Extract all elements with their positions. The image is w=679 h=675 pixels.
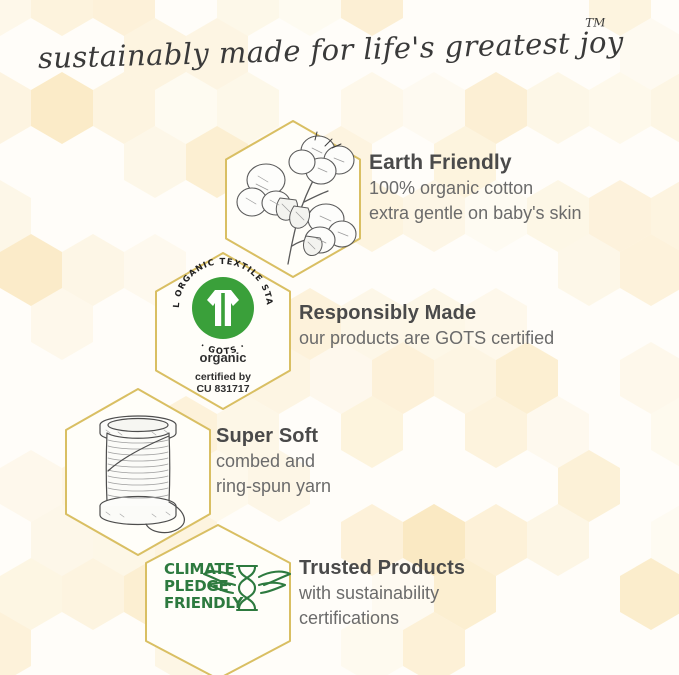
feature-text-block: Earth Friendly 100% organic cotton extra… — [369, 150, 582, 226]
feature-desc-line: combed and — [216, 449, 331, 474]
headline-script-text: sustainably made for life's greatest joy — [37, 25, 624, 75]
feature-title: Trusted Products — [299, 556, 465, 581]
feature-desc-line: 100% organic cotton — [369, 176, 582, 201]
feature-desc-line: ring-spun yarn — [216, 474, 331, 499]
feature-text-block: Responsibly Made our products are GOTS c… — [299, 301, 554, 351]
feature-title: Earth Friendly — [369, 150, 582, 176]
feature-desc-line: with sustainability — [299, 581, 465, 606]
feature-desc-line: extra gentle on baby's skin — [369, 201, 582, 226]
cpf-line-3: FRIENDLY — [164, 594, 244, 612]
trademark-symbol: TM — [585, 18, 606, 30]
feature-desc-line: certifications — [299, 606, 465, 631]
hexagon-card-trusted-products: CLIMATE PLEDGE FRIENDLY — [142, 522, 294, 675]
cpf-line-1: CLIMATE — [164, 560, 235, 578]
promo-infographic: sustainably made for life's greatest joy… — [0, 0, 679, 675]
gots-caption-organic: organic — [200, 350, 247, 365]
feature-text-block: Trusted Products with sustainability cer… — [299, 556, 465, 631]
feature-title: Responsibly Made — [299, 301, 554, 326]
feature-text-block: Super Soft combed and ring-spun yarn — [216, 424, 331, 499]
feature-desc-line: our products are GOTS certified — [299, 326, 554, 351]
gots-caption-certified-by: certified by — [195, 371, 251, 383]
feature-title: Super Soft — [216, 424, 331, 449]
headline-banner: sustainably made for life's greatest joy… — [0, 18, 679, 80]
